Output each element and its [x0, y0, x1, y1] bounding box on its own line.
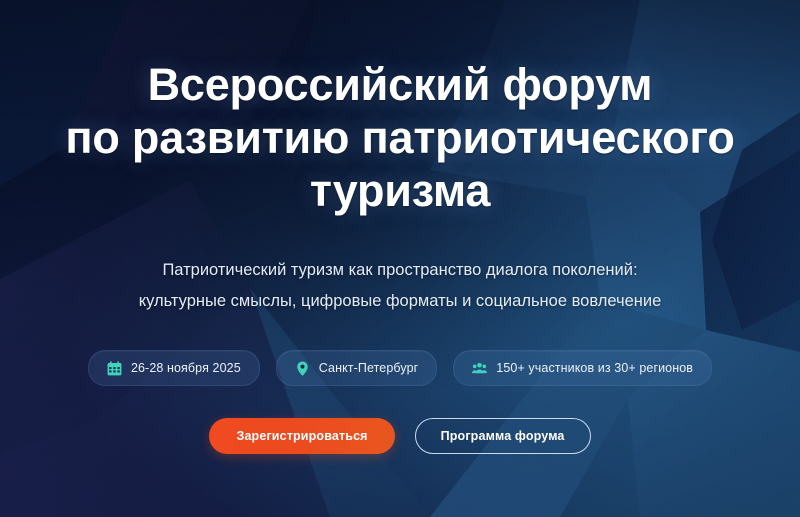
people-group-icon — [472, 361, 487, 376]
subtitle-line: Патриотический туризм как пространство д… — [44, 255, 756, 286]
title-line: туризма — [40, 164, 760, 217]
chip-location: Санкт-Петербург — [276, 350, 438, 386]
register-button[interactable]: Зарегистрироваться — [209, 418, 394, 454]
chip-label: Санкт-Петербург — [319, 361, 419, 375]
info-chip-row: 26-28 ноября 2025 Санкт-Петербург — [88, 350, 712, 386]
program-button[interactable]: Программа форума — [415, 418, 591, 454]
chip-participants: 150+ участников из 30+ регионов — [453, 350, 712, 386]
title-line: по развитию патриотического — [40, 111, 760, 164]
title-line: Всероссийский форум — [40, 58, 760, 111]
action-button-row: Зарегистрироваться Программа форума — [209, 418, 590, 454]
hero-content: Всероссийский форум по развитию патриоти… — [0, 0, 800, 517]
page-subtitle: Патриотический туризм как пространство д… — [0, 255, 800, 317]
subtitle-line: культурные смыслы, цифровые форматы и со… — [44, 286, 756, 317]
hero-banner: Всероссийский форум по развитию патриоти… — [0, 0, 800, 517]
chip-label: 26-28 ноября 2025 — [131, 361, 241, 375]
calendar-icon — [107, 361, 122, 376]
chip-date: 26-28 ноября 2025 — [88, 350, 260, 386]
page-title: Всероссийский форум по развитию патриоти… — [0, 58, 800, 217]
chip-label: 150+ участников из 30+ регионов — [496, 361, 693, 375]
location-pin-icon — [295, 361, 310, 376]
